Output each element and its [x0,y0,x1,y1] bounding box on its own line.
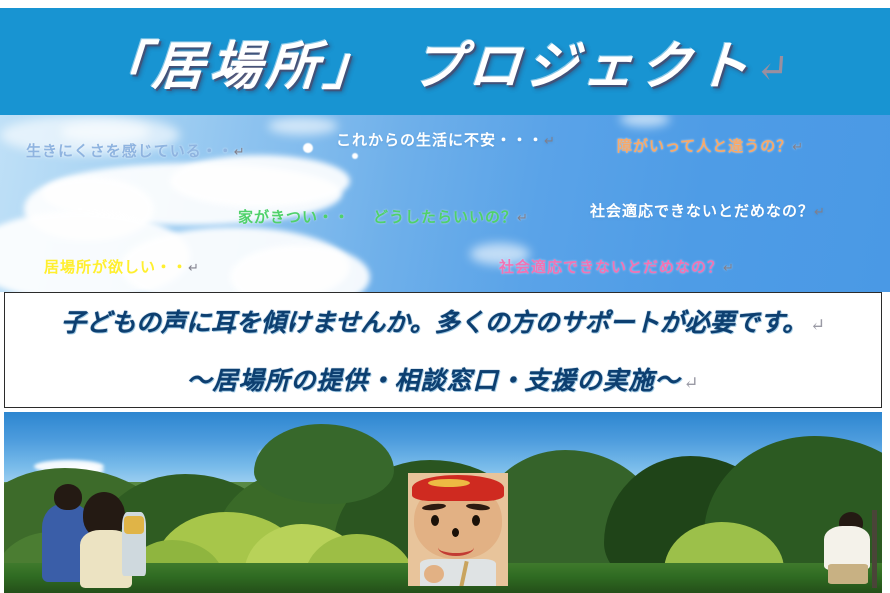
person-patterned-shirt-accent [124,516,144,534]
voice-label: 居場所が欲しい・・ [44,258,188,276]
voice-label: 障がいって人と違うの？ [617,137,792,155]
message-box: 子どもの声に耳を傾けませんか。多くの方のサポートが必要です。↵ ～居場所の提供・… [4,292,882,408]
cartoon-eye-left [431,515,439,526]
paragraph-mark-icon: ↵ [723,261,734,276]
cloud-shape [268,117,338,135]
fence-post [872,510,877,588]
page-title: 「居場所」 プロジェクト↵ [93,24,797,99]
cartoon-boy-illustration [408,473,508,586]
voice-text-future-anxiety: これからの生活に不安・・・↵ [336,129,555,150]
voice-text-home-hard: 家がきつい・・ [238,206,350,227]
paragraph-mark-icon: ↵ [792,140,803,155]
cartoon-hand [424,565,444,583]
voice-label: 社会適応できないとだめなの？ [499,258,723,276]
paragraph-mark-icon: ↵ [188,261,199,276]
message-line-2: ～居場所の提供・相談窓口・支援の実施～↵ [186,361,699,397]
voice-text-what-to-do: どうしたらいいの？↵ [373,206,528,227]
title-banner: 「居場所」 プロジェクト↵ [0,8,890,115]
sky-voices-band: 生きにくさを感じている・・↵ これからの生活に不安・・・↵ 障がいって人と違うの… [0,115,890,292]
cartoon-eye-right [472,515,480,526]
paragraph-mark-icon: ↵ [683,373,699,394]
voice-text-disability-question: 障がいって人と違うの？↵ [617,135,803,156]
voice-text-social-adapt-white: 社会適応できないとだめなの？↵ [590,200,825,221]
cartoon-smile-mouth [438,539,474,556]
voice-label: 生きにくさを感じている・・ [26,142,234,160]
paragraph-mark-icon: ↵ [517,211,528,226]
cloud-dot-icon [303,143,313,153]
page-title-text: 「居場所」 プロジェクト [93,36,755,97]
voice-text-living-difficulty: 生きにくさを感じている・・↵ [26,140,245,161]
person-head [54,484,82,510]
voice-label: どうしたらいいの？ [373,208,517,226]
voice-text-social-adapt-pink: 社会適応できないとだめなの？↵ [499,256,734,277]
voice-label: これからの生活に不安・・・ [336,131,544,149]
cartoon-nose [452,528,459,537]
message-line-1: 子どもの声に耳を傾けませんか。多くの方のサポートが必要です。↵ [61,303,825,339]
paragraph-mark-icon: ↵ [814,205,825,220]
message-line-2-text: ～居場所の提供・相談窓口・支援の実施～ [186,366,680,395]
paragraph-mark-icon: ↵ [544,134,555,149]
message-line-1-text: 子どもの声に耳を傾けませんか。多くの方のサポートが必要です。 [61,308,807,337]
person-khaki-shorts [828,564,868,584]
poster-root: 「居場所」 プロジェクト↵ 生きにくさを感じている・・↵ これからの生活に不安・… [0,0,890,593]
voice-text-want-place: 居場所が欲しい・・↵ [44,256,199,277]
cloud-dot-icon [352,153,358,159]
voice-label: 社会適応できないとだめなの？ [590,202,814,220]
cartoon-headband-highlight [428,479,470,487]
cloud-shape [170,155,350,207]
paragraph-mark-icon: ↵ [234,145,245,160]
paragraph-mark-icon: ↵ [754,46,796,92]
paragraph-mark-icon: ↵ [810,315,825,336]
cloud-shape [620,115,670,127]
voice-label: 家がきつい・・ [238,208,350,226]
